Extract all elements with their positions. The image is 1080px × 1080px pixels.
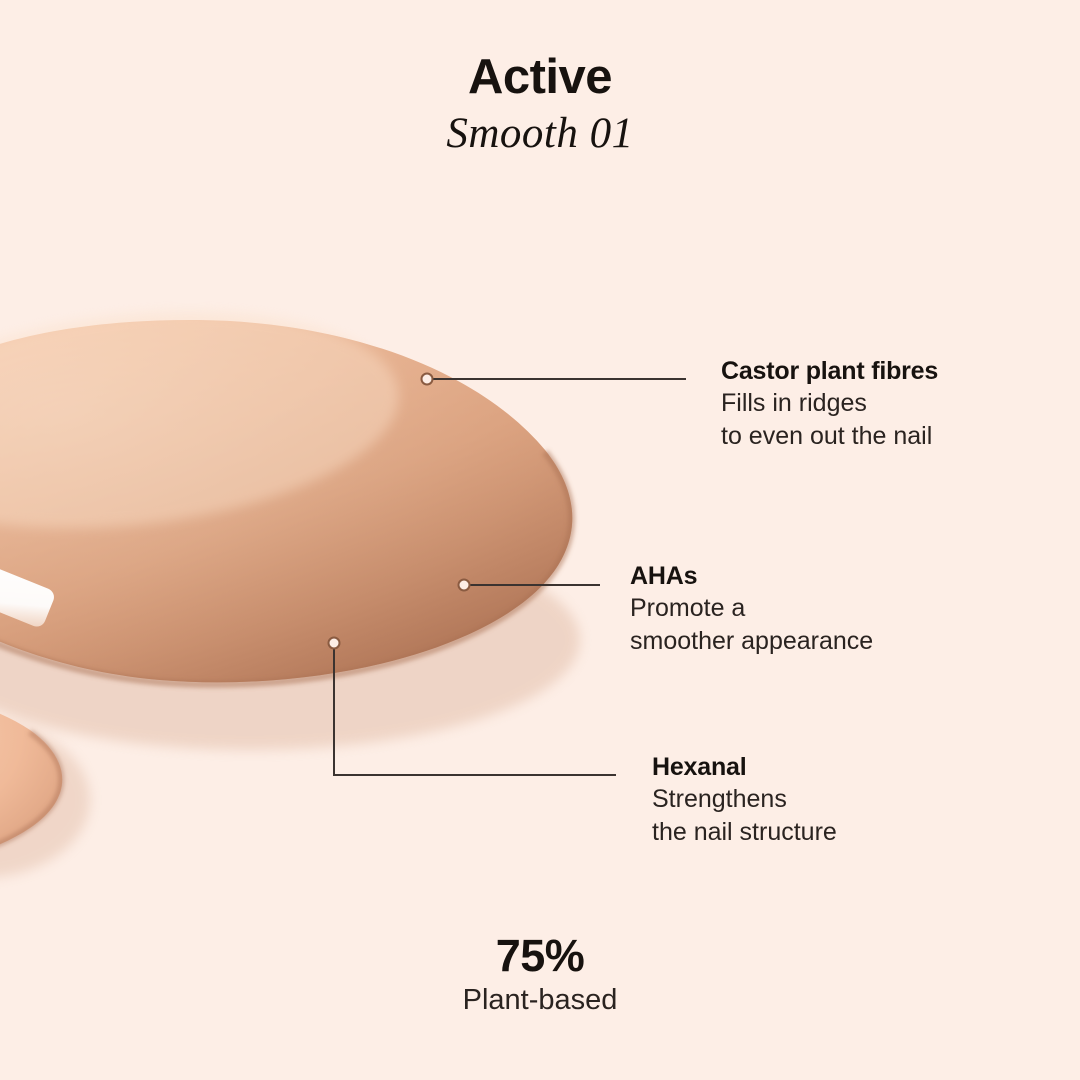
leader-line-hexanal <box>334 649 616 775</box>
callout-title: AHAs <box>630 561 873 592</box>
callout-description-line: Strengthens <box>652 784 837 815</box>
infographic-canvas: Active Smooth 01 Castor plant fibres Fil… <box>0 0 1080 1080</box>
product-artwork <box>0 0 1080 1080</box>
callout-description-line: Fills in ridges <box>721 388 938 419</box>
stat-label: Plant-based <box>0 983 1080 1018</box>
callout-title: Hexanal <box>652 752 837 783</box>
header: Active Smooth 01 <box>0 52 1080 158</box>
leader-dot-hexanal <box>329 638 340 649</box>
callout-description-line: smoother appearance <box>630 626 873 657</box>
callout-hexanal: Hexanal Strengthens the nail structure <box>652 752 837 848</box>
droplet-edge-line <box>0 452 572 684</box>
callout-title: Castor plant fibres <box>721 356 938 387</box>
leader-dot-ahas <box>459 580 470 591</box>
droplet-shadow <box>0 530 580 750</box>
droplet-rim-shading <box>0 320 572 682</box>
footer-stat: 75% Plant-based <box>0 932 1080 1018</box>
callout-description-line: the nail structure <box>652 817 837 848</box>
page-subtitle: Smooth 01 <box>0 110 1080 157</box>
droplet-small-edge-line <box>0 732 61 865</box>
page-title: Active <box>0 52 1080 103</box>
nail-polish-droplet-small <box>0 692 62 867</box>
callout-description-line: to even out the nail <box>721 421 938 452</box>
nail-polish-droplet <box>0 320 572 682</box>
leader-dot-castor <box>422 374 433 385</box>
callout-description-line: Promote a <box>630 593 873 624</box>
droplet-sheen <box>0 287 409 552</box>
droplet-shadow-small <box>0 722 90 878</box>
callout-castor-plant-fibres: Castor plant fibres Fills in ridges to e… <box>721 356 938 452</box>
stat-value: 75% <box>0 932 1080 979</box>
callout-ahas: AHAs Promote a smoother appearance <box>630 561 873 657</box>
gloss-highlight <box>0 543 57 630</box>
